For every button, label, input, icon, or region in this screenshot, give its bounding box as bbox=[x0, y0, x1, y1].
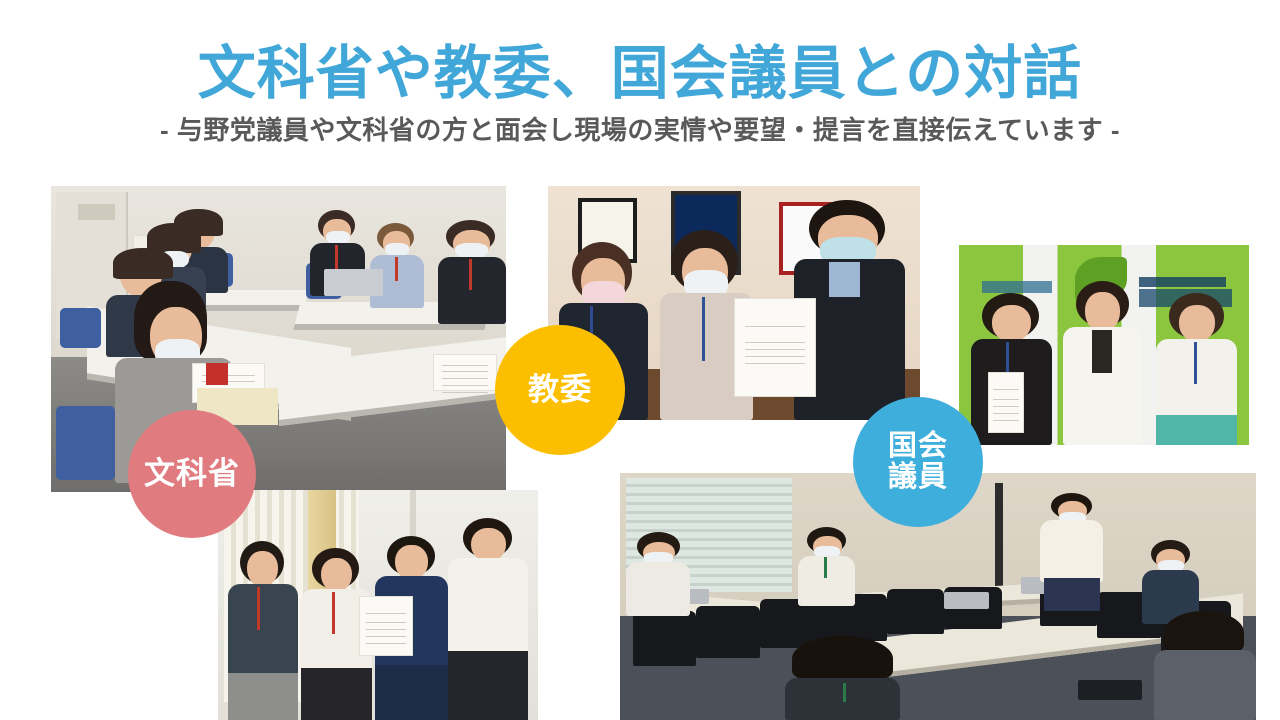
photo-meeting-room-scene bbox=[51, 186, 506, 492]
page-subtitle: - 与野党議員や文科省の方と面会し現場の実情や要望・提言を直接伝えています - bbox=[0, 110, 1280, 147]
badge-kokkaigiin[interactable]: 国会 議員 bbox=[853, 397, 983, 527]
badge-kokkaigiin-line2: 議員 bbox=[888, 461, 948, 493]
badge-monkasho[interactable]: 文科省 bbox=[128, 410, 256, 538]
photo-green-backdrop-scene bbox=[959, 245, 1249, 445]
photo-green-backdrop bbox=[959, 245, 1249, 445]
badge-kokkaigiin-line1: 国会 bbox=[888, 430, 948, 462]
badge-monkasho-label: 文科省 bbox=[144, 457, 240, 490]
badge-kokkaigiin-label: 国会 議員 bbox=[888, 431, 948, 494]
badge-kyoi-label: 教委 bbox=[528, 373, 592, 406]
photo-four-people-scene bbox=[218, 490, 538, 720]
photo-four-people bbox=[218, 490, 538, 720]
page-title: 文科省や教委、国会議員との対話 bbox=[0, 26, 1280, 110]
slide-canvas: 文科省や教委、国会議員との対話 - 与野党議員や文科省の方と面会し現場の実情や要… bbox=[0, 0, 1280, 720]
badge-kyoi[interactable]: 教委 bbox=[495, 325, 625, 455]
photo-meeting-room bbox=[51, 186, 506, 492]
